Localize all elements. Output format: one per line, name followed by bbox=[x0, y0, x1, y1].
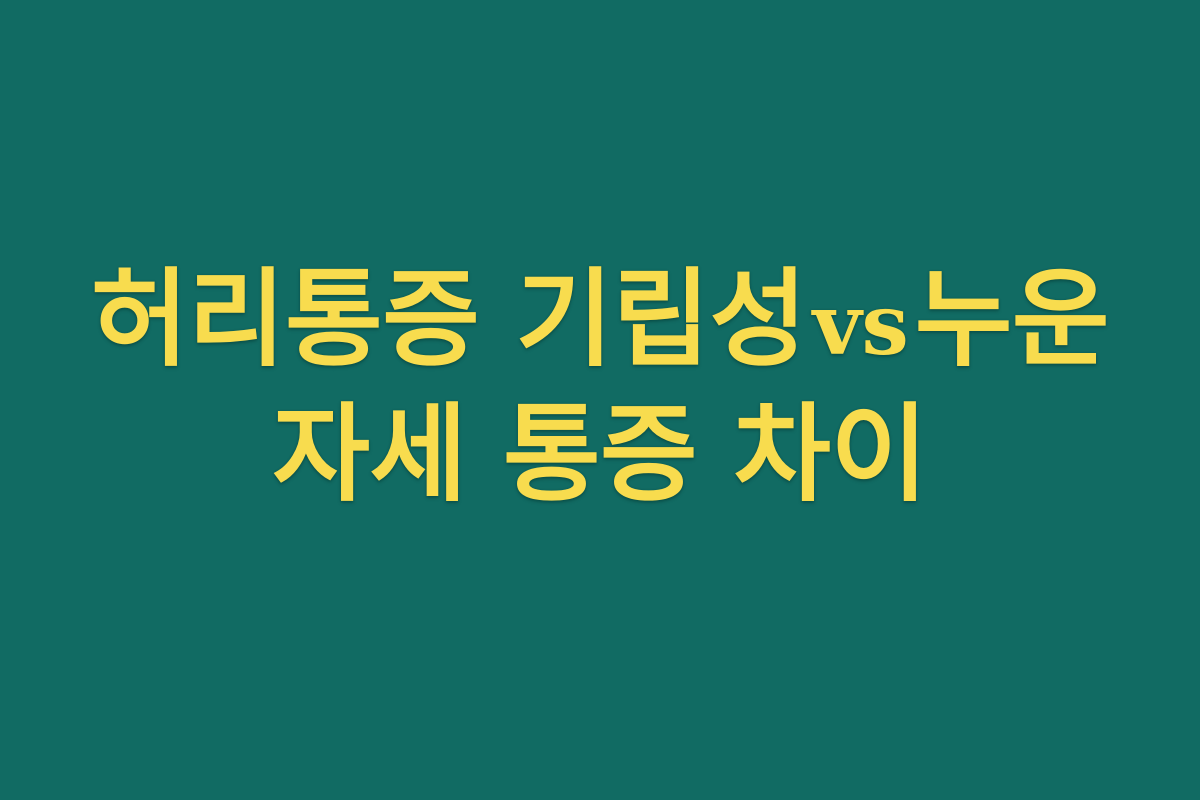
title-block: 허리통증 기립성vs누운 자세 통증 차이 bbox=[40, 255, 1160, 520]
title-line-2: 자세 통증 차이 bbox=[80, 390, 1120, 520]
title-line-1-latin-vs: vs bbox=[807, 275, 915, 374]
title-line-1: 허리통증 기립성vs누운 bbox=[80, 255, 1120, 390]
title-line-1-hangul-before: 허리통증 기립성 bbox=[91, 258, 807, 381]
title-line-1-hangul-after: 누운 bbox=[915, 258, 1109, 381]
thumbnail-card: 허리통증 기립성vs누운 자세 통증 차이 bbox=[0, 0, 1200, 800]
